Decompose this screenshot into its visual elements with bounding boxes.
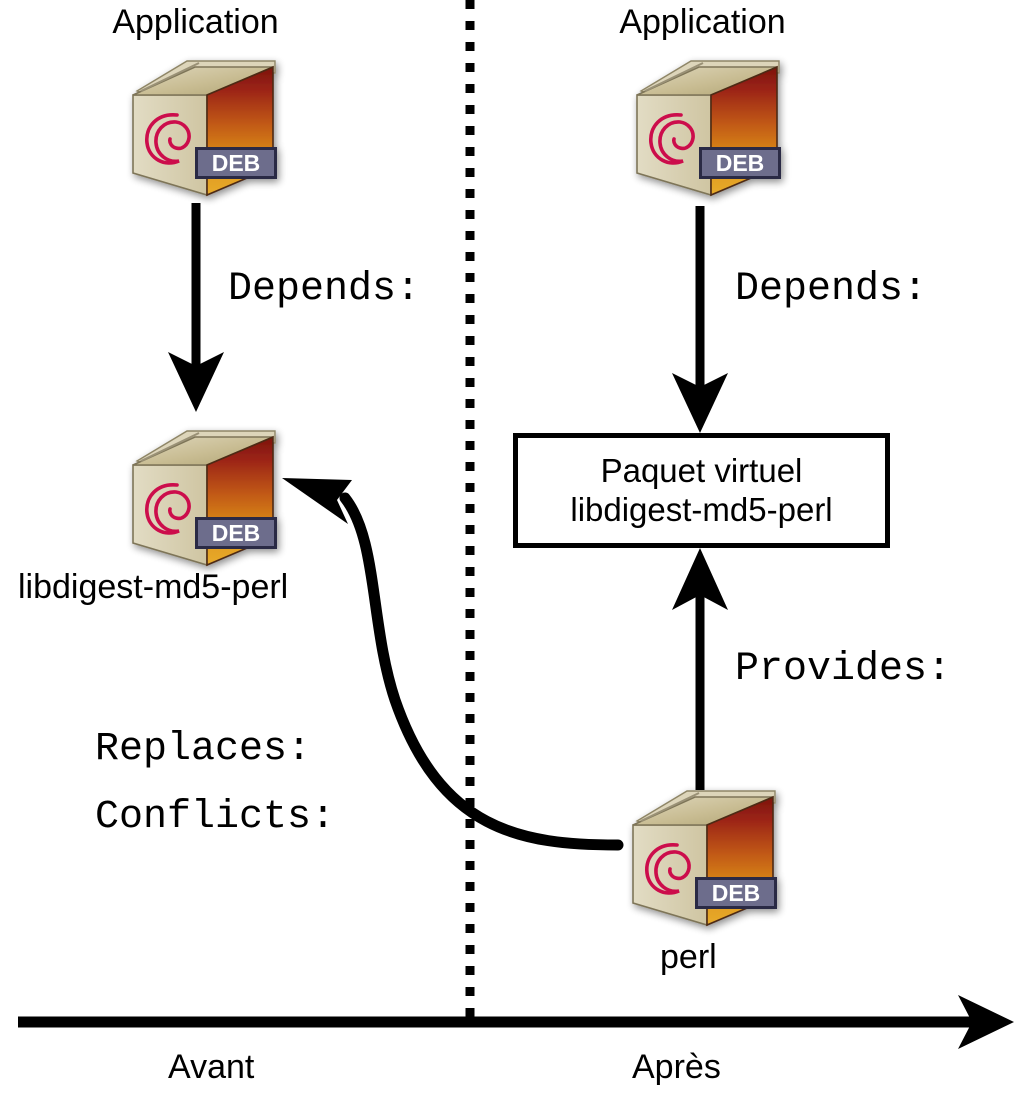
relation-depends-left: Depends: <box>228 270 420 310</box>
debian-package-icon: DEB <box>633 791 777 925</box>
package-label-perl: perl <box>660 940 717 974</box>
timeline-axis <box>18 995 1014 1049</box>
svg-text:DEB: DEB <box>712 880 761 906</box>
deb-badge: DEB <box>699 147 781 179</box>
debian-package-icon: DEB <box>133 431 277 565</box>
arrow-depends-right <box>672 206 728 433</box>
relation-replaces: Replaces: <box>95 730 311 770</box>
deb-badge: DEB <box>195 517 277 549</box>
arrow-depends-left <box>168 203 224 412</box>
svg-text:DEB: DEB <box>212 520 261 546</box>
timeline-label-before: Avant <box>168 1050 254 1084</box>
diagram-canvas: DEB DEB <box>0 0 1024 1094</box>
deb-badge: DEB <box>195 147 277 179</box>
title-application-right: Application <box>595 5 810 39</box>
virtual-package-line-1: Paquet virtuel <box>601 452 803 491</box>
debian-package-icon: DEB <box>133 61 277 195</box>
relation-conflicts: Conflicts: <box>95 798 335 838</box>
virtual-package-box: Paquet virtuel libdigest-md5-perl <box>513 433 890 548</box>
svg-text:DEB: DEB <box>212 150 261 176</box>
arrow-provides <box>672 548 728 790</box>
package-label-libdigest-md5-perl: libdigest-md5-perl <box>18 570 288 604</box>
relation-provides: Provides: <box>735 650 951 690</box>
timeline-label-after: Après <box>632 1050 721 1084</box>
deb-badge: DEB <box>695 877 777 909</box>
debian-package-icon: DEB <box>637 61 781 195</box>
svg-text:DEB: DEB <box>716 150 765 176</box>
title-application-left: Application <box>88 5 303 39</box>
relation-depends-right: Depends: <box>735 270 927 310</box>
virtual-package-line-2: libdigest-md5-perl <box>570 491 832 530</box>
